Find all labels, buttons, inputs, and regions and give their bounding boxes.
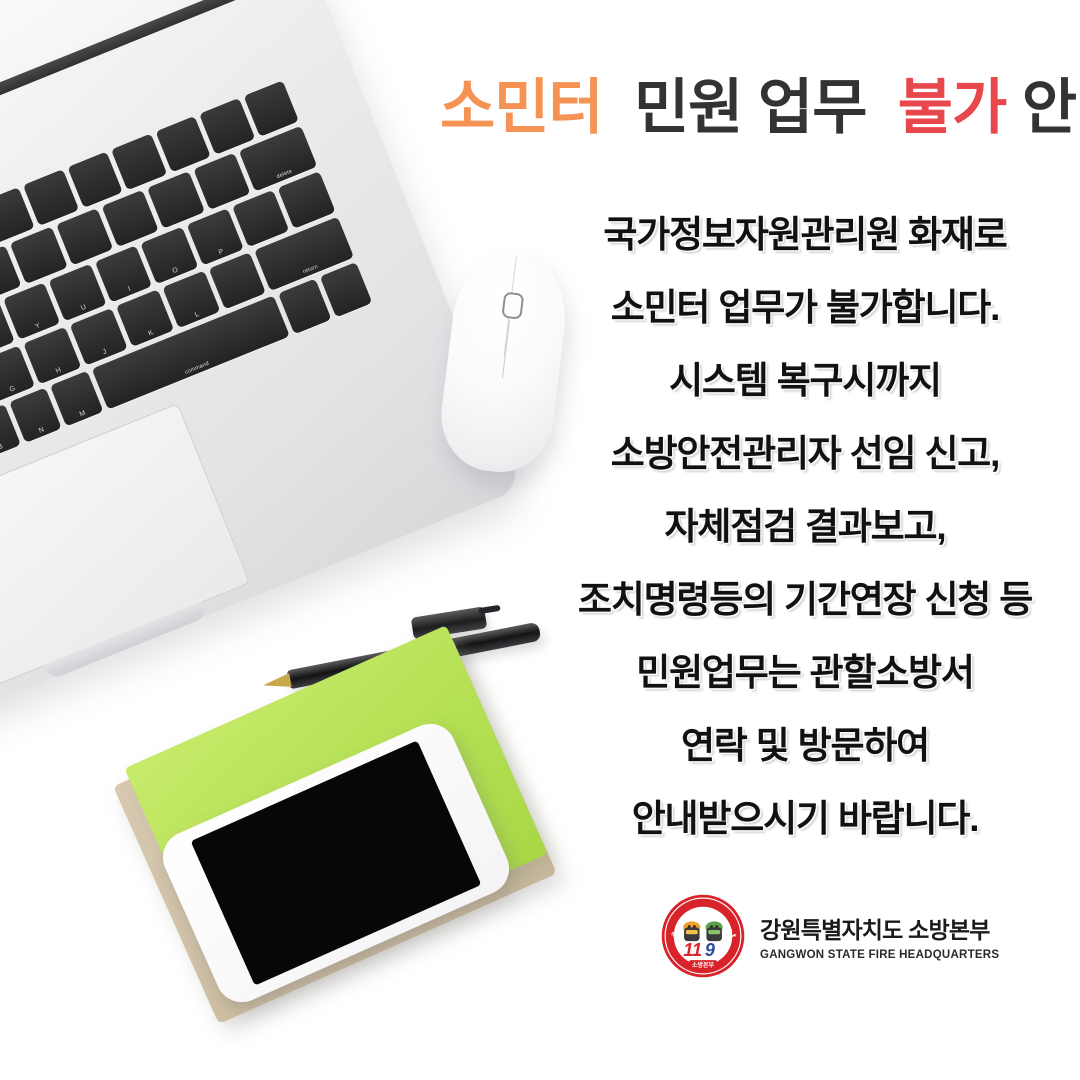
svg-text:11: 11	[683, 940, 702, 960]
poster-canvas: esc	[0, 0, 1080, 1080]
emblem-badge-label: 소방본부	[692, 961, 715, 969]
organization-logo: Gangwon State	[660, 886, 990, 986]
notice-line: 연락 및 방문하여	[530, 709, 1080, 782]
title-segment-civil-service: 민원 업무	[634, 74, 866, 141]
logo-text-block: 강원특별자치도 소방본부 GANGWON STATE FIRE HEADQUAR…	[760, 911, 999, 961]
notice-line: 소민터 업무가 불가합니다.	[530, 271, 1080, 344]
notice-line: 조치명령등의 기간연장 신청 등	[530, 563, 1080, 636]
notice-line: 소방안전관리자 선임 신고,	[530, 417, 1080, 490]
title-segment-unavailable: 불가	[898, 74, 1006, 141]
notice-line: 안내받으시기 바랍니다.	[530, 782, 1080, 855]
logo-name-english: GANGWON STATE FIRE HEADQUARTERS	[760, 949, 999, 961]
emblem-svg: Gangwon State	[660, 893, 746, 979]
mouse-scroll-wheel-icon	[501, 292, 524, 320]
notice-body: 국가정보자원관리원 화재로 소민터 업무가 불가합니다. 시스템 복구시까지 소…	[530, 198, 1080, 855]
notice-line: 시스템 복구시까지	[530, 344, 1080, 417]
page-title: 소민터 민원 업무 불가 안내	[440, 78, 1080, 138]
logo-name-korean: 강원특별자치도 소방본부	[760, 911, 999, 945]
title-segment-somintor: 소민터	[440, 74, 603, 141]
title-segment-notice: 안내	[1022, 74, 1080, 141]
emblem-119-label: 11 9	[683, 940, 715, 960]
notice-line: 자체점검 결과보고,	[530, 490, 1080, 563]
svg-text:9: 9	[705, 940, 715, 960]
mascot-firefighter-right	[706, 921, 723, 941]
notice-line: 민원업무는 관할소방서	[530, 636, 1080, 709]
photo-collage: esc	[0, 0, 600, 1080]
notice-line: 국가정보자원관리원 화재로	[530, 198, 1080, 271]
mascot-firefighter-left	[683, 921, 700, 941]
fire-department-emblem-icon: Gangwon State	[660, 893, 746, 979]
